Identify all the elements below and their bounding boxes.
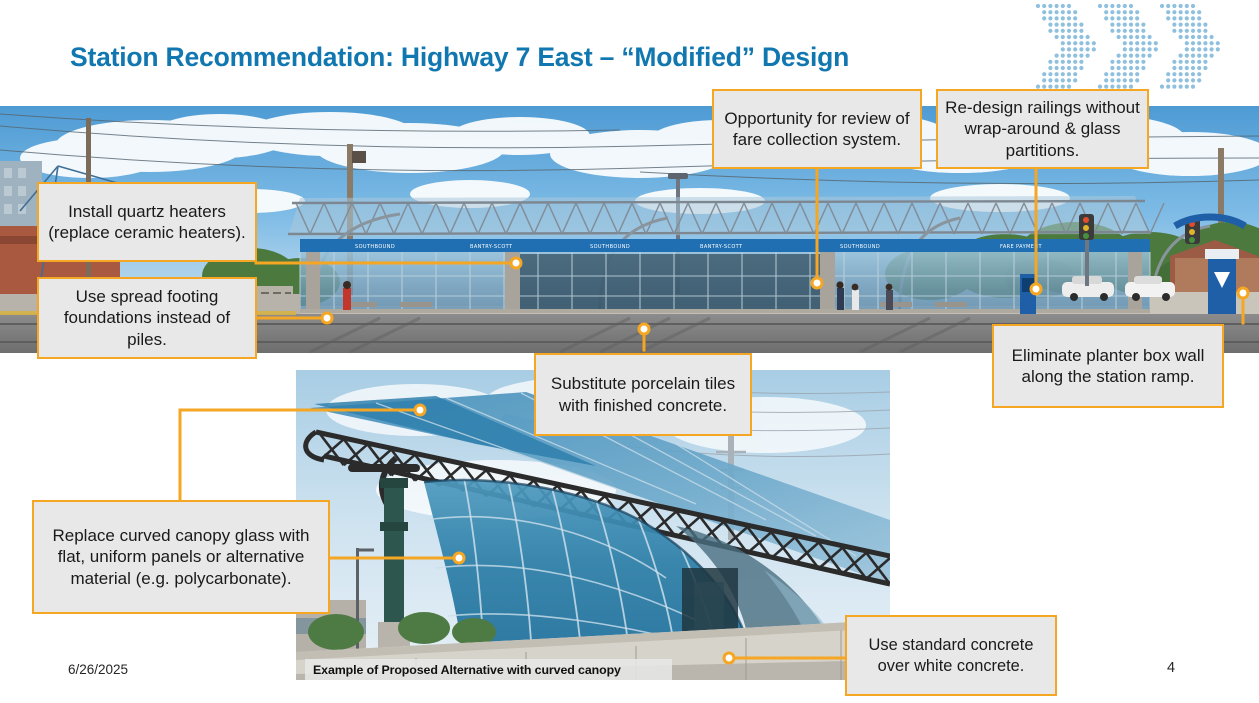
dotted-chevron-decoration	[1030, 2, 1259, 94]
svg-text:FARE PAYMENT: FARE PAYMENT	[1000, 244, 1042, 250]
callout-redesign-railings[interactable]: Re-design railings without wrap-around &…	[936, 89, 1149, 169]
svg-text:BANTRY-SCOTT: BANTRY-SCOTT	[470, 244, 513, 250]
callout-use-standard-concrete[interactable]: Use standard concrete over white concret…	[845, 615, 1057, 696]
callout-eliminate-planter-box[interactable]: Eliminate planter box wall along the sta…	[992, 324, 1224, 408]
svg-text:SOUTHBOUND: SOUTHBOUND	[355, 244, 395, 250]
svg-text:SOUTHBOUND: SOUTHBOUND	[840, 244, 880, 250]
svg-text:BANTRY-SCOTT: BANTRY-SCOTT	[700, 244, 743, 250]
footer-page-number: 4	[1167, 660, 1175, 676]
callout-fare-collection-review[interactable]: Opportunity for review of fare collectio…	[712, 89, 922, 169]
svg-text:SOUTHBOUND: SOUTHBOUND	[590, 244, 630, 250]
callout-install-quartz-heaters[interactable]: Install quartz heaters (replace ceramic …	[37, 182, 257, 262]
page-title: Station Recommendation: Highway 7 East –…	[70, 42, 849, 73]
callout-replace-curved-canopy-glass[interactable]: Replace curved canopy glass with flat, u…	[32, 500, 330, 614]
callout-substitute-porcelain-tiles[interactable]: Substitute porcelain tiles with finished…	[534, 353, 752, 436]
photo-caption-label: Example of Proposed Alternative with cur…	[305, 659, 672, 680]
footer-date: 6/26/2025	[68, 662, 128, 677]
callout-use-spread-footing-foundations[interactable]: Use spread footing foundations instead o…	[37, 277, 257, 359]
